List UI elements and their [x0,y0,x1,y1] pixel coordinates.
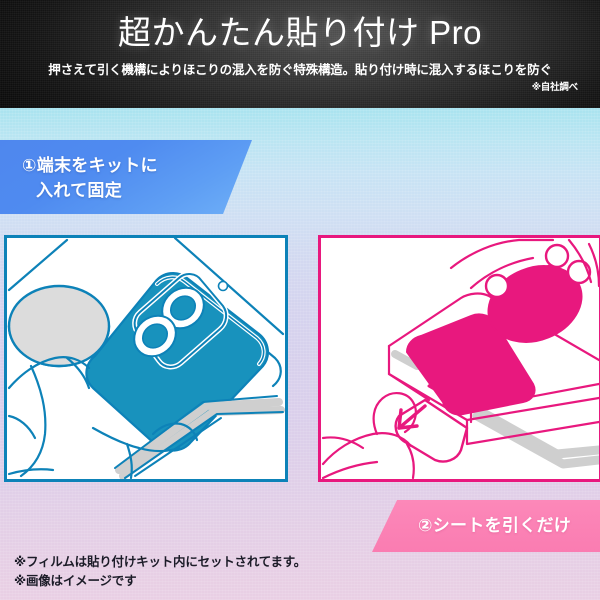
step-2-label: ②シートを引くだけ [418,514,571,538]
step-1-banner: ①端末をキットに 入れて固定 [0,140,252,214]
footnote-1: ※フィルムは貼り付けキット内にセットされてます。 [14,553,306,572]
illustration-panel-step-2 [318,235,600,482]
promo-graphic: 超かんたん貼り付け Pro 押さえて引く機構によりほこりの混入を防ぐ特殊構造。貼… [0,0,600,600]
footnote-2: ※画像はイメージです [14,572,306,591]
header-disclaimer: ※自社調べ [532,82,578,94]
footnotes: ※フィルムは貼り付けキット内にセットされてます。 ※画像はイメージです [14,553,306,591]
header-bar: 超かんたん貼り付け Pro 押さえて引く機構によりほこりの混入を防ぐ特殊構造。貼… [0,0,600,108]
illustration-panel-step-1 [4,235,288,482]
step-2-banner: ②シートを引くだけ [372,500,600,552]
header-subtitle: 押さえて引く機構によりほこりの混入を防ぐ特殊構造。貼り付け時に混入するほこりを防… [0,62,600,79]
step-1-line-1: ①端末をキットに [22,156,158,175]
header-content: 超かんたん貼り付け Pro 押さえて引く機構によりほこりの混入を防ぐ特殊構造。貼… [0,0,600,108]
page-title: 超かんたん貼り付け Pro [0,13,600,53]
phone-in-kit-illustration [7,238,285,479]
step-1-label: ①端末をキットに 入れて固定 [22,153,158,203]
pull-sheet-illustration [321,238,599,479]
step-1-line-2: 入れて固定 [22,178,158,203]
